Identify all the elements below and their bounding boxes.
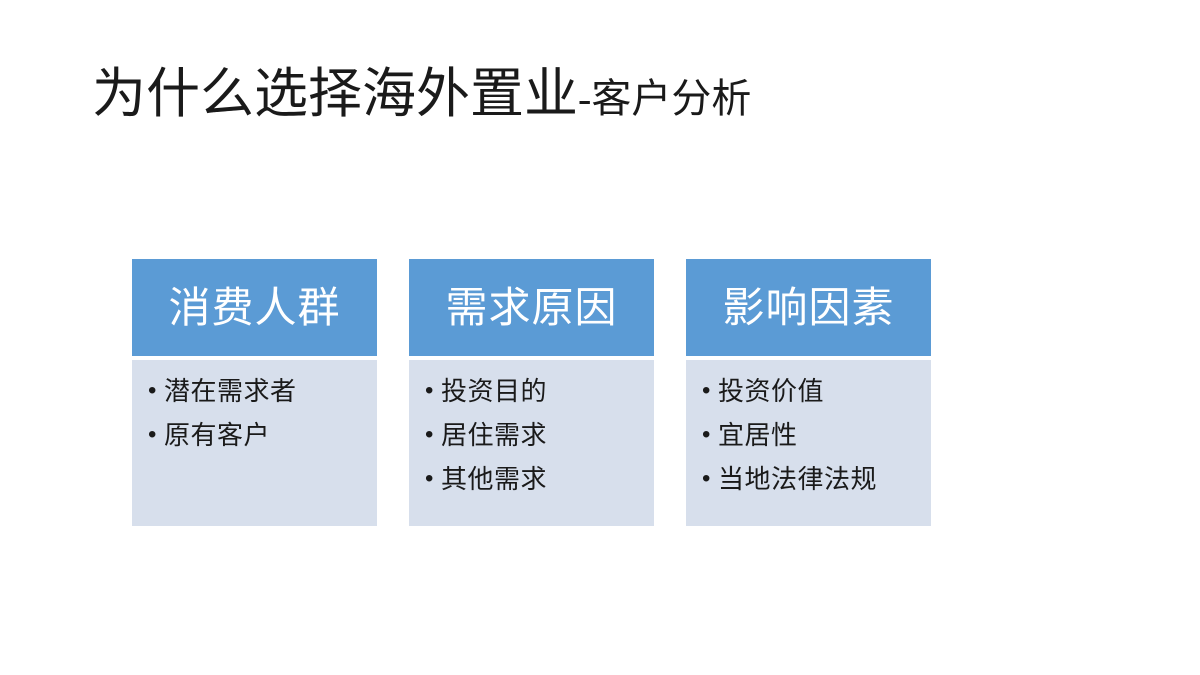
bullet-dot-icon: • [702,374,718,408]
card-header-label: 影响因素 [722,285,894,331]
bullet-dot-icon: • [425,418,441,452]
list-item: • 投资目的 [425,374,646,408]
bullet-dot-icon: • [702,462,718,496]
bullet-dot-icon: • [148,374,164,408]
card-body-demand-reason: • 投资目的 • 居住需求 • 其他需求 [409,360,654,526]
list-item: • 宜居性 [702,418,923,452]
card-header-consumer-group: 消费人群 [132,259,377,356]
bullet-dot-icon: • [702,418,718,452]
card-influencing-factor: 影响因素 • 投资价值 • 宜居性 • 当地法律法规 [686,259,931,526]
bullet-dot-icon: • [425,462,441,496]
list-item: • 原有客户 [148,418,369,452]
card-body-influencing-factor: • 投资价值 • 宜居性 • 当地法律法规 [686,360,931,526]
card-header-influencing-factor: 影响因素 [686,259,931,356]
list-item: • 当地法律法规 [702,462,923,496]
list-item: • 居住需求 [425,418,646,452]
list-item-label: 潜在需求者 [164,374,369,408]
card-body-consumer-group: • 潜在需求者 • 原有客户 [132,360,377,526]
page-title-main: 为什么选择海外置业 [92,64,578,124]
page-title-suffix: -客户分析 [578,76,751,121]
list-item: • 潜在需求者 [148,374,369,408]
slide-canvas: 为什么选择海外置业-客户分析 消费人群 • 潜在需求者 • 原有客户 [0,0,1200,675]
bullet-list: • 潜在需求者 • 原有客户 [148,374,369,452]
card-demand-reason: 需求原因 • 投资目的 • 居住需求 • 其他需求 [409,259,654,526]
bullet-dot-icon: • [425,374,441,408]
bullet-dot-icon: • [148,418,164,452]
card-header-demand-reason: 需求原因 [409,259,654,356]
list-item-label: 其他需求 [441,462,646,496]
list-item-label: 居住需求 [441,418,646,452]
card-consumer-group: 消费人群 • 潜在需求者 • 原有客户 [132,259,377,526]
page-title: 为什么选择海外置业-客户分析 [92,58,1112,130]
list-item-label: 原有客户 [164,418,369,452]
list-item: • 投资价值 [702,374,923,408]
card-header-label: 需求原因 [445,285,617,331]
list-item-label: 投资价值 [718,374,923,408]
list-item: • 其他需求 [425,462,646,496]
list-item-label: 当地法律法规 [718,462,923,496]
bullet-list: • 投资目的 • 居住需求 • 其他需求 [425,374,646,496]
bullet-list: • 投资价值 • 宜居性 • 当地法律法规 [702,374,923,496]
card-header-label: 消费人群 [168,285,340,331]
list-item-label: 宜居性 [718,418,923,452]
list-item-label: 投资目的 [441,374,646,408]
card-row: 消费人群 • 潜在需求者 • 原有客户 需求原因 [132,259,934,526]
